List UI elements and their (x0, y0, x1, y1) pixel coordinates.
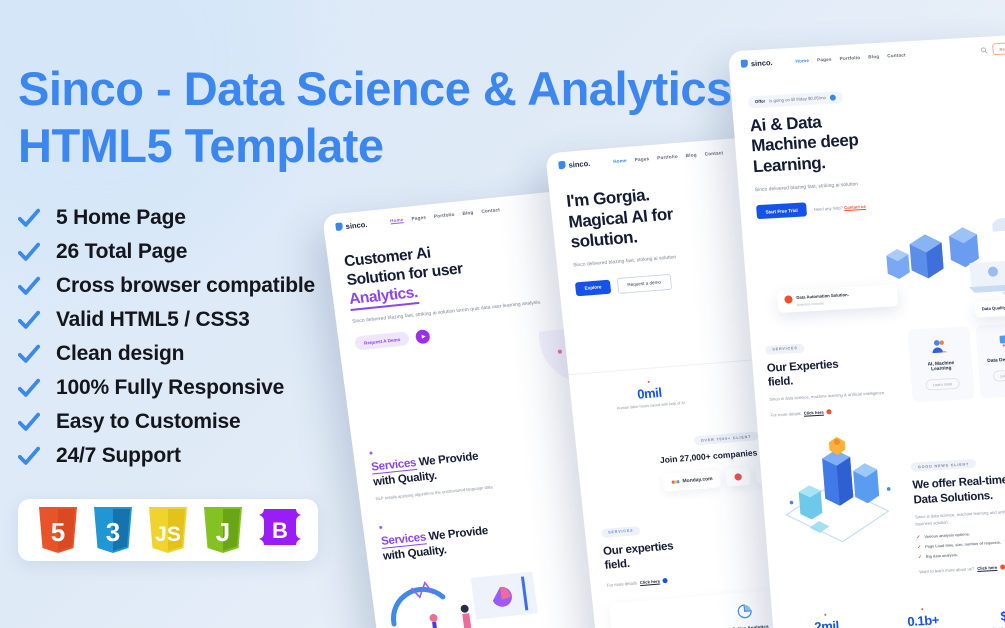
svg-text:3: 3 (106, 517, 120, 547)
check-circle-icon (784, 296, 793, 304)
list-item: 5 Home Page (18, 201, 718, 235)
stat-dot-icon (825, 613, 827, 615)
css3-shield-icon: 3 (91, 505, 135, 555)
experties-card-title: AI, Machine Learning (917, 361, 965, 374)
logo-text: sinco. (751, 58, 773, 68)
list-item: Cross browser compatible (18, 269, 718, 303)
experties-link-pre: For more details (770, 411, 801, 418)
check-icon (18, 411, 40, 433)
feature-label: Cross browser compatible (56, 274, 315, 298)
client-logo-generic (726, 467, 752, 487)
stat-value: 2mil (781, 616, 873, 628)
title-line-2: HTML5 Template (18, 117, 718, 174)
bullet-label: Various analysis options. (924, 532, 970, 539)
stat-dot-icon (921, 608, 923, 610)
bullet-label: Big data analysis. (926, 553, 958, 559)
css3-badge: 3 (91, 505, 135, 555)
realtime-paragraph: Sinco is data science, machine learning … (915, 505, 1005, 528)
learn-more-button[interactable]: Learn more (925, 378, 959, 391)
bootstrap-icon: B (256, 505, 304, 553)
realtime-section: GOOD NEWS CLIENT We offer Real-time Data… (758, 415, 1005, 587)
check-icon (18, 445, 40, 467)
mockup-right[interactable]: sinco. Home Pages Portfolio Blog Contact… (728, 34, 1005, 628)
logo[interactable]: sinco. (741, 58, 773, 69)
people-icon (930, 338, 948, 356)
feature-label: Valid HTML5 / CSS3 (56, 308, 250, 332)
pie-chart-icon (735, 602, 754, 620)
experties-link[interactable]: Click here (804, 409, 824, 415)
arrow-circle-icon (663, 578, 669, 583)
javascript-badge: JS (146, 505, 190, 555)
arrow-circle-icon (830, 94, 836, 100)
feature-list: 5 Home Page 26 Total Page Cross browser … (18, 201, 718, 473)
data-quality-title: Data Quality Audit (982, 305, 1005, 313)
experties-heading: Our Experties field. (766, 354, 903, 391)
hero-heading: Ai & Data Machine deep Learning. (749, 101, 1005, 178)
logo-mark-icon (741, 59, 749, 67)
experties-link-row[interactable]: For more details Click here (770, 409, 832, 418)
need-help-label: Need any help? (813, 205, 843, 212)
check-icon (18, 275, 40, 297)
check-icon: ✓ (917, 544, 921, 550)
nav-item-blog[interactable]: Blog (868, 53, 879, 59)
feature-label: Easy to Customise (56, 410, 241, 434)
promo-panel: Sinco - Data Science & Analytics HTML5 T… (18, 60, 718, 561)
contact-us-link[interactable]: Contact us (844, 204, 866, 210)
list-item: 26 Total Page (18, 235, 718, 269)
realtime-heading: We offer Real-time Data Solutions. (912, 471, 1005, 508)
feature-label: 26 Total Page (56, 240, 187, 264)
title-line-1: Sinco - Data Science & Analytics (18, 62, 732, 115)
stat-item: 0.1b+ Generated revenue by AI Solutions (877, 605, 970, 628)
realtime-link-pre: Want to learn more about us? (919, 566, 974, 574)
experties-card-title: Data Development (984, 357, 1005, 365)
learn-more-button[interactable]: Learn more (992, 369, 1005, 382)
check-icon (18, 377, 40, 399)
navbar-right: Requ (980, 42, 1005, 56)
stat-value: $2mil+ (974, 605, 1005, 625)
stat-value: 0.1b+ (877, 610, 969, 628)
tech-badge-row: 5 3 JS J (18, 499, 318, 561)
realtime-bullets: ✓ Various analysis options. ✓ Page Load … (916, 526, 1005, 560)
realtime-tag: GOOD NEWS CLIENT (911, 459, 977, 472)
feature-label: 5 Home Page (56, 206, 186, 230)
data-quality-card: Data Quality Audit (974, 299, 1005, 318)
feature-label: Clean design (56, 342, 184, 366)
list-item: 24/7 Support (18, 439, 718, 473)
nav-item-pages[interactable]: Pages (817, 56, 832, 62)
services-link-pre: For more details (606, 581, 637, 588)
jquery-badge: J (201, 505, 245, 555)
nav-item-portfolio[interactable]: Portfolio (839, 54, 860, 60)
nav-item-contact[interactable]: Contact (887, 52, 906, 58)
layers-icon (998, 334, 1005, 352)
check-icon: ✓ (916, 534, 920, 540)
list-item: Valid HTML5 / CSS3 (18, 303, 718, 337)
stat-item: 2mil Human labor hours saved with help o… (780, 611, 873, 628)
request-quote-button[interactable]: Requ (992, 42, 1005, 55)
services-link[interactable]: Click here (640, 579, 660, 586)
experties-tag: SERVICES (765, 343, 805, 354)
feature-label: 100% Fully Responsive (56, 376, 284, 400)
nav-item-home[interactable]: Home (795, 57, 809, 63)
arrow-circle-icon (1000, 564, 1005, 569)
need-help-row: Need any help? Contact us (813, 204, 865, 212)
experties-section: SERVICES Our Experties field. Sinco is d… (749, 308, 1005, 432)
html5-badge: 5 (36, 505, 80, 555)
bar-chart-isometric-icon (772, 430, 910, 547)
realtime-link[interactable]: Click here (977, 565, 997, 571)
check-icon (18, 241, 40, 263)
circle-logo-icon (734, 473, 743, 482)
check-icon (18, 343, 40, 365)
arrow-circle-icon (827, 409, 832, 414)
realtime-link-row[interactable]: Want to learn more about us? Click here (919, 564, 1005, 574)
svg-text:B: B (272, 518, 288, 543)
stat-item: $2mil+ Saved operational costs due to AI (973, 600, 1005, 628)
bullet-label: Page Load time, size, number of requests… (925, 540, 1001, 548)
feature-label: 24/7 Support (56, 444, 181, 468)
offer-badge-text: is going on till friday $0.05/mo (769, 95, 826, 103)
stats-row: 2mil Human labor hours saved with help o… (771, 585, 1005, 628)
hero-section: Offer is going on till friday $0.05/mo A… (730, 60, 1005, 325)
list-item: Clean design (18, 337, 718, 371)
nav-items: Home Pages Portfolio Blog Contact (795, 52, 906, 63)
experties-paragraph: Sinco is data science, machine learning … (769, 388, 905, 403)
services-link-row[interactable]: For more details Click here (606, 578, 668, 588)
bullet-item: ✓ Various analysis options. (916, 526, 1005, 540)
list-item: Easy to Customise (18, 405, 718, 439)
check-icon (18, 207, 40, 229)
offer-badge[interactable]: Offer is going on till friday $0.05/mo (747, 91, 843, 108)
jquery-shield-icon: J (201, 505, 245, 555)
check-icon (18, 309, 40, 331)
bootstrap-badge: B (256, 505, 300, 555)
svg-text:5: 5 (51, 517, 65, 547)
page-title: Sinco - Data Science & Analytics HTML5 T… (18, 60, 718, 175)
experties-card[interactable]: Data Development Learn more (975, 322, 1005, 398)
check-icon: ✓ (918, 554, 922, 560)
html5-shield-icon: 5 (36, 505, 80, 555)
hero-illustration: Data Automation Solution. business innov… (757, 204, 1005, 324)
search-icon[interactable] (980, 46, 988, 53)
list-item: 100% Fully Responsive (18, 371, 718, 405)
javascript-shield-icon: JS (146, 505, 190, 555)
offer-badge-bold: Offer (755, 99, 766, 105)
svg-text:JS: JS (155, 523, 181, 546)
svg-text:J: J (216, 517, 230, 547)
experties-card[interactable]: AI, Machine Learning Learn more (907, 326, 974, 402)
data-automation-sub: business innovate (797, 300, 850, 307)
